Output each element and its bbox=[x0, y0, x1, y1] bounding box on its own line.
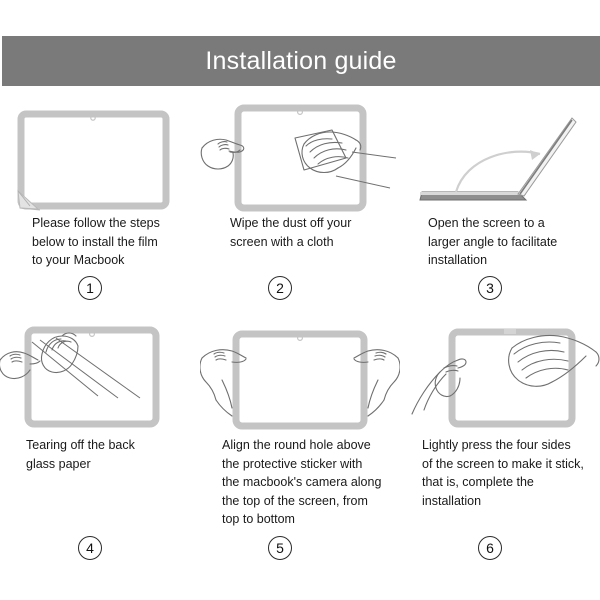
steps-row-top: Please follow the steps below to install… bbox=[0, 96, 600, 318]
step-illustration-3 bbox=[400, 96, 600, 214]
steps-row-bottom: Tearing off the back glass paper 4 bbox=[0, 318, 600, 580]
laptop-opening-angle-icon bbox=[400, 96, 600, 214]
hand-wiping-screen-with-cloth-icon bbox=[200, 96, 400, 214]
hand-tearing-back-paper-icon bbox=[0, 318, 200, 436]
step-number-badge-3: 3 bbox=[478, 276, 502, 300]
step-number-badge-5: 5 bbox=[268, 536, 292, 560]
step-description-5: Align the round hole above the protectiv… bbox=[200, 436, 400, 532]
step-description-3: Open the screen to a larger angle to fac… bbox=[400, 214, 600, 272]
screen-with-peeling-film-icon bbox=[0, 96, 200, 214]
step-card-2: Wipe the dust off your screen with a clo… bbox=[200, 96, 400, 318]
header-bar: Installation guide bbox=[2, 36, 600, 86]
two-hands-aligning-film-icon bbox=[200, 318, 400, 436]
step-illustration-2 bbox=[200, 96, 400, 214]
step-description-2: Wipe the dust off your screen with a clo… bbox=[200, 214, 400, 272]
step-badge-row-5: 5 bbox=[200, 532, 400, 580]
step-badge-row-2: 2 bbox=[200, 272, 400, 318]
step-card-1: Please follow the steps below to install… bbox=[0, 96, 200, 318]
step-badge-row-4: 4 bbox=[0, 532, 200, 580]
step-description-1: Please follow the steps below to install… bbox=[0, 214, 200, 272]
step-number-badge-1: 1 bbox=[78, 276, 102, 300]
step-illustration-4 bbox=[0, 318, 200, 436]
step-illustration-5 bbox=[200, 318, 400, 436]
step-description-6: Lightly press the four sides of the scre… bbox=[400, 436, 600, 532]
step-card-6: Lightly press the four sides of the scre… bbox=[400, 318, 600, 580]
step-description-4: Tearing off the back glass paper bbox=[0, 436, 200, 532]
step-card-3: Open the screen to a larger angle to fac… bbox=[400, 96, 600, 318]
step-badge-row-3: 3 bbox=[400, 272, 600, 318]
step-number-badge-4: 4 bbox=[78, 536, 102, 560]
step-number-badge-6: 6 bbox=[478, 536, 502, 560]
page-title: Installation guide bbox=[205, 49, 396, 74]
step-badge-row-1: 1 bbox=[0, 272, 200, 318]
step-card-5: Align the round hole above the protectiv… bbox=[200, 318, 400, 580]
steps-grid: Please follow the steps below to install… bbox=[0, 96, 600, 580]
hands-pressing-screen-sides-icon bbox=[400, 318, 600, 436]
step-illustration-1 bbox=[0, 96, 200, 214]
step-badge-row-6: 6 bbox=[400, 532, 600, 580]
step-card-4: Tearing off the back glass paper 4 bbox=[0, 318, 200, 580]
step-illustration-6 bbox=[400, 318, 600, 436]
step-number-badge-2: 2 bbox=[268, 276, 292, 300]
